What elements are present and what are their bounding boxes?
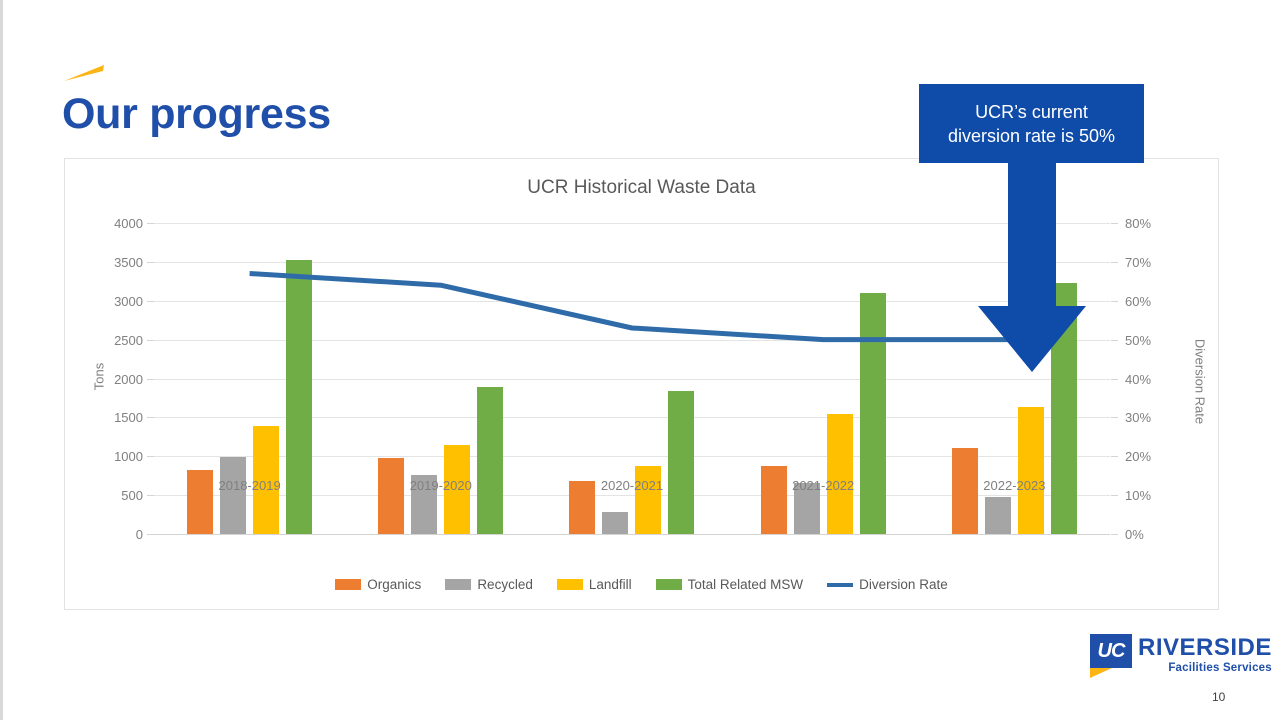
legend-swatch — [557, 579, 583, 590]
callout-text-box: UCR’s current diversion rate is 50% — [919, 84, 1144, 163]
y-axis-right-tick: 10% — [1125, 489, 1151, 502]
legend-label: Diversion Rate — [859, 577, 948, 592]
logo-brand: RIVERSIDE — [1138, 634, 1272, 662]
uc-logo-gold-triangle — [1090, 668, 1112, 678]
legend-swatch — [827, 583, 853, 587]
x-axis-tick: 2020-2021 — [536, 478, 727, 493]
chart-bar — [668, 391, 694, 534]
chart-bar — [827, 414, 853, 535]
legend-label: Organics — [367, 577, 421, 592]
y-axis-left-tick-dash — [147, 456, 154, 457]
legend-item: Organics — [335, 577, 421, 592]
legend-swatch — [445, 579, 471, 590]
y-axis-right-tick-dash — [1111, 417, 1118, 418]
diversion-rate-callout: UCR’s current diversion rate is 50% — [919, 84, 1144, 375]
legend-item: Recycled — [445, 577, 533, 592]
y-axis-left-tick: 3500 — [75, 256, 143, 269]
chart-bar — [602, 512, 628, 534]
y-axis-right-tick: 0% — [1125, 528, 1144, 541]
page-title: Our progress — [62, 92, 331, 137]
slide: Our progress UCR Historical Waste Data 0… — [0, 0, 1280, 720]
y-axis-right-tick: 30% — [1125, 411, 1151, 424]
chart-bar — [761, 466, 787, 534]
y-axis-left-tick: 500 — [75, 489, 143, 502]
y-axis-left-tick-dash — [147, 223, 154, 224]
chart-bar — [477, 387, 503, 534]
y-axis-left-tick-dash — [147, 417, 154, 418]
y-axis-right-tick-dash — [1111, 495, 1118, 496]
legend-swatch — [656, 579, 682, 590]
callout-down-arrow-icon — [919, 163, 1144, 375]
legend-label: Total Related MSW — [688, 577, 804, 592]
y-axis-left-tick: 2500 — [75, 334, 143, 347]
chart-bar — [635, 466, 661, 534]
y-axis-left-tick-dash — [147, 495, 154, 496]
y-axis-left-tick-dash — [147, 340, 154, 341]
chart-bar — [378, 458, 404, 534]
y-axis-right-title: Diversion Rate — [1193, 327, 1208, 437]
chart-bar — [220, 457, 246, 534]
uc-riverside-logo: UC RIVERSIDE Facilities Services — [1090, 634, 1272, 676]
legend-item: Diversion Rate — [827, 577, 948, 592]
y-axis-right-tick-dash — [1111, 534, 1118, 535]
y-axis-left-tick: 3000 — [75, 295, 143, 308]
chart-bar — [985, 497, 1011, 534]
arrow-shaft — [1008, 163, 1056, 315]
y-axis-left-title: Tons — [92, 337, 107, 417]
y-axis-right-tick-dash — [1111, 456, 1118, 457]
chart-bar — [1018, 407, 1044, 534]
y-axis-left-tick-dash — [147, 534, 154, 535]
x-axis-tick: 2022-2023 — [919, 478, 1110, 493]
y-axis-left-tick: 2000 — [75, 373, 143, 386]
x-axis-tick: 2018-2019 — [154, 478, 345, 493]
uc-logo-mark: UC — [1090, 634, 1132, 676]
y-axis-left-tick: 0 — [75, 528, 143, 541]
y-axis-right-tick-dash — [1111, 379, 1118, 380]
chart-legend: OrganicsRecycledLandfillTotal Related MS… — [65, 577, 1218, 592]
y-axis-left-tick: 4000 — [75, 217, 143, 230]
gridline — [154, 534, 1110, 535]
legend-label: Landfill — [589, 577, 632, 592]
y-axis-left-tick: 1000 — [75, 450, 143, 463]
legend-swatch — [335, 579, 361, 590]
legend-item: Total Related MSW — [656, 577, 804, 592]
y-axis-left-tick-dash — [147, 379, 154, 380]
logo-subtitle: Facilities Services — [1138, 662, 1272, 674]
y-axis-left-tick: 1500 — [75, 411, 143, 424]
x-axis-tick: 2021-2022 — [728, 478, 919, 493]
arrow-head — [978, 306, 1086, 372]
uc-monogram: UC — [1090, 634, 1132, 668]
chart-bar — [860, 293, 886, 534]
x-axis-tick: 2019-2020 — [345, 478, 536, 493]
slide-left-rule — [0, 0, 3, 720]
callout-line-1: UCR’s current — [929, 100, 1134, 124]
logo-wordmark: RIVERSIDE Facilities Services — [1138, 634, 1272, 674]
y-axis-left-tick-dash — [147, 262, 154, 263]
y-axis-left-tick-dash — [147, 301, 154, 302]
legend-label: Recycled — [477, 577, 533, 592]
page-number: 10 — [1212, 690, 1225, 704]
gold-swoosh-icon — [64, 62, 106, 84]
legend-item: Landfill — [557, 577, 632, 592]
y-axis-right-tick: 20% — [1125, 450, 1151, 463]
callout-line-2: diversion rate is 50% — [929, 124, 1134, 148]
